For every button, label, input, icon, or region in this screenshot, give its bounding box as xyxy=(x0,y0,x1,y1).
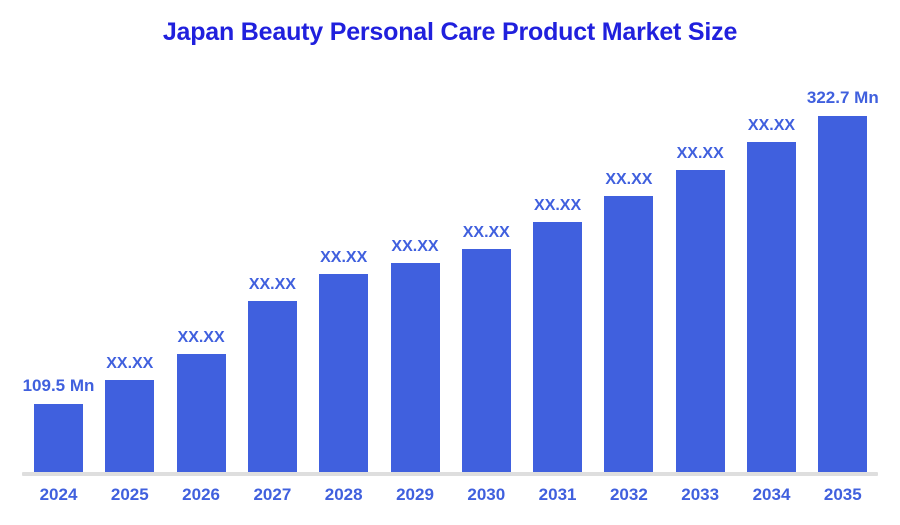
bar-2030[interactable] xyxy=(462,249,511,472)
bar-value-label-2035: 322.7 Mn xyxy=(773,88,900,108)
bar-2026[interactable] xyxy=(177,354,226,472)
x-axis-line xyxy=(22,472,878,476)
x-tick-label-2035: 2035 xyxy=(783,485,900,505)
bar-2024[interactable] xyxy=(34,404,83,472)
bar-2033[interactable] xyxy=(676,170,725,472)
bar-2028[interactable] xyxy=(319,274,368,472)
bar-2034[interactable] xyxy=(747,142,796,472)
chart-container: Japan Beauty Personal Care Product Marke… xyxy=(0,0,900,525)
bar-2032[interactable] xyxy=(604,196,653,472)
plot-area: 109.5 Mn2024XX.XX2025XX.XX2026XX.XX2027X… xyxy=(0,0,900,525)
bar-2029[interactable] xyxy=(391,263,440,472)
bar-2025[interactable] xyxy=(105,380,154,472)
bar-2035[interactable] xyxy=(818,116,867,472)
bar-2027[interactable] xyxy=(248,301,297,472)
bar-2031[interactable] xyxy=(533,222,582,472)
